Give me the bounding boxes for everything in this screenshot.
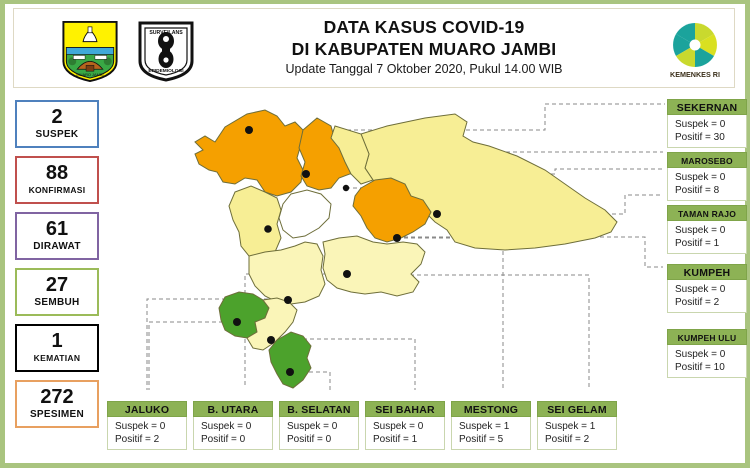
positif-count: Positif = 0 [201, 433, 272, 446]
panel-header: MAROSEBO [667, 152, 747, 168]
stat-box-kematian: 1KEMATIAN [15, 324, 99, 372]
stat-box-sembuh: 27SEMBUH [15, 268, 99, 316]
positif-count: Positif = 2 [115, 433, 186, 446]
header-bar: MUARO JAMBI SURVEILANS EPIDEMIOLOGI DATA… [13, 8, 735, 88]
panel-sei-gelam: SEI GELAMSuspek = 1Positif = 2 [537, 401, 617, 450]
stat-value: 2 [51, 107, 62, 128]
stat-label: SEMBUH [34, 296, 79, 309]
stat-value: 27 [46, 275, 68, 296]
stat-label: KEMATIAN [34, 352, 81, 365]
suspek-count: Suspek = 0 [675, 118, 746, 131]
suspek-count: Suspek = 0 [201, 420, 272, 433]
surveilans-epidemiologi-logo: SURVEILANS EPIDEMIOLOGI [136, 19, 196, 83]
panel-header: SEI BAHAR [365, 401, 445, 417]
stat-box-konfirmasi: 88KONFIRMASI [15, 156, 99, 204]
panel-header: SEKERNAN [667, 99, 747, 115]
kemenkes-ri-logo: KEMENKES RI [659, 17, 731, 85]
region-sekernan [195, 110, 303, 196]
panel-header: MESTONG [451, 401, 531, 417]
panel-header: KUMPEH [667, 264, 747, 280]
panel-header: TAMAN RAJO [667, 205, 747, 221]
header-title-block: DATA KASUS COVID-19 DI KABUPATEN MUARO J… [214, 17, 634, 79]
stat-value: 272 [40, 387, 73, 408]
panel-sei-bahar: SEI BAHARSuspek = 0Positif = 1 [365, 401, 445, 450]
panel-body: Suspek = 0Positif = 1 [365, 417, 445, 450]
panel-body: Suspek = 0Positif = 1 [667, 221, 747, 254]
panel-header: SEI GELAM [537, 401, 617, 417]
stat-box-dirawat: 61DIRAWAT [15, 212, 99, 260]
panel-body: Suspek = 0Positif = 8 [667, 168, 747, 201]
page-title-line1: DATA KASUS COVID-19 [214, 17, 634, 38]
stat-label: KONFIRMASI [29, 184, 86, 197]
region-sei-gelam [323, 236, 425, 296]
positif-count: Positif = 10 [675, 361, 746, 374]
panel-jaluko: JALUKOSuspek = 0Positif = 2 [107, 401, 187, 450]
suspek-count: Suspek = 0 [287, 420, 358, 433]
region-white-enclave [279, 190, 331, 238]
map-svg [125, 92, 665, 404]
kabupaten-crest-logo: MUARO JAMBI [59, 18, 121, 83]
suspek-count: Suspek = 0 [675, 171, 746, 184]
panel-header: B. UTARA [193, 401, 273, 417]
suspek-count: Suspek = 0 [115, 420, 186, 433]
suspek-count: Suspek = 0 [675, 283, 746, 296]
panel-header: KUMPEH ULU [667, 329, 747, 345]
positif-count: Positif = 2 [545, 433, 616, 446]
update-timestamp: Update Tanggal 7 Oktober 2020, Pukul 14.… [214, 60, 634, 79]
suspek-count: Suspek = 0 [373, 420, 444, 433]
positif-count: Positif = 30 [675, 131, 746, 144]
positif-count: Positif = 2 [675, 296, 746, 309]
panel-body: Suspek = 0Positif = 30 [667, 115, 747, 148]
panel-body: Suspek = 0Positif = 0 [279, 417, 359, 450]
suspek-count: Suspek = 1 [459, 420, 530, 433]
stat-value: 61 [46, 219, 68, 240]
panel-body: Suspek = 0Positif = 10 [667, 345, 747, 378]
badge-inner-label: EPIDEMIOLOGI [148, 68, 184, 74]
page-title-line2: DI KABUPATEN MUARO JAMBI [214, 38, 634, 60]
positif-count: Positif = 8 [675, 184, 746, 197]
stat-box-suspek: 2SUSPEK [15, 100, 99, 148]
stat-label: SPESIMEN [30, 408, 84, 421]
panel-body: Suspek = 1Positif = 2 [537, 417, 617, 450]
panel-body: Suspek = 0Positif = 2 [107, 417, 187, 450]
panel-header: JALUKO [107, 401, 187, 417]
panel-marosebo: MAROSEBOSuspek = 0Positif = 8 [667, 152, 747, 201]
panel-body: Suspek = 0Positif = 0 [193, 417, 273, 450]
panel-kumpeh-ulu: KUMPEH ULUSuspek = 0Positif = 10 [667, 329, 747, 378]
kemenkes-label: KEMENKES RI [670, 70, 720, 79]
panel-header: B. SELATAN [279, 401, 359, 417]
panel-body: Suspek = 1Positif = 5 [451, 417, 531, 450]
muaro-jambi-choropleth-map [125, 92, 665, 404]
badge-outer-label: SURVEILANS [149, 30, 183, 36]
panel-b-utara: B. UTARASuspek = 0Positif = 0 [193, 401, 273, 450]
suspek-count: Suspek = 0 [675, 224, 746, 237]
positif-count: Positif = 1 [373, 433, 444, 446]
positif-count: Positif = 0 [287, 433, 358, 446]
panel-taman-rajo: TAMAN RAJOSuspek = 0Positif = 1 [667, 205, 747, 254]
stat-label: SUSPEK [36, 128, 79, 141]
svg-text:MUARO JAMBI: MUARO JAMBI [76, 72, 103, 77]
panel-sekernan: SEKERNANSuspek = 0Positif = 30 [667, 99, 747, 148]
infographic-page: MUARO JAMBI SURVEILANS EPIDEMIOLOGI DATA… [0, 0, 750, 468]
panel-b-selatan: B. SELATANSuspek = 0Positif = 0 [279, 401, 359, 450]
stat-value: 1 [51, 331, 62, 352]
region-west-strip [229, 186, 281, 258]
panel-kumpeh: KUMPEHSuspek = 0Positif = 2 [667, 264, 747, 313]
stat-label: DIRAWAT [33, 240, 80, 253]
stat-value: 88 [46, 163, 68, 184]
suspek-count: Suspek = 0 [675, 348, 746, 361]
suspek-count: Suspek = 1 [545, 420, 616, 433]
panel-mestong: MESTONGSuspek = 1Positif = 5 [451, 401, 531, 450]
positif-count: Positif = 5 [459, 433, 530, 446]
panel-body: Suspek = 0Positif = 2 [667, 280, 747, 313]
positif-count: Positif = 1 [675, 237, 746, 250]
stat-box-spesimen: 272SPESIMEN [15, 380, 99, 428]
